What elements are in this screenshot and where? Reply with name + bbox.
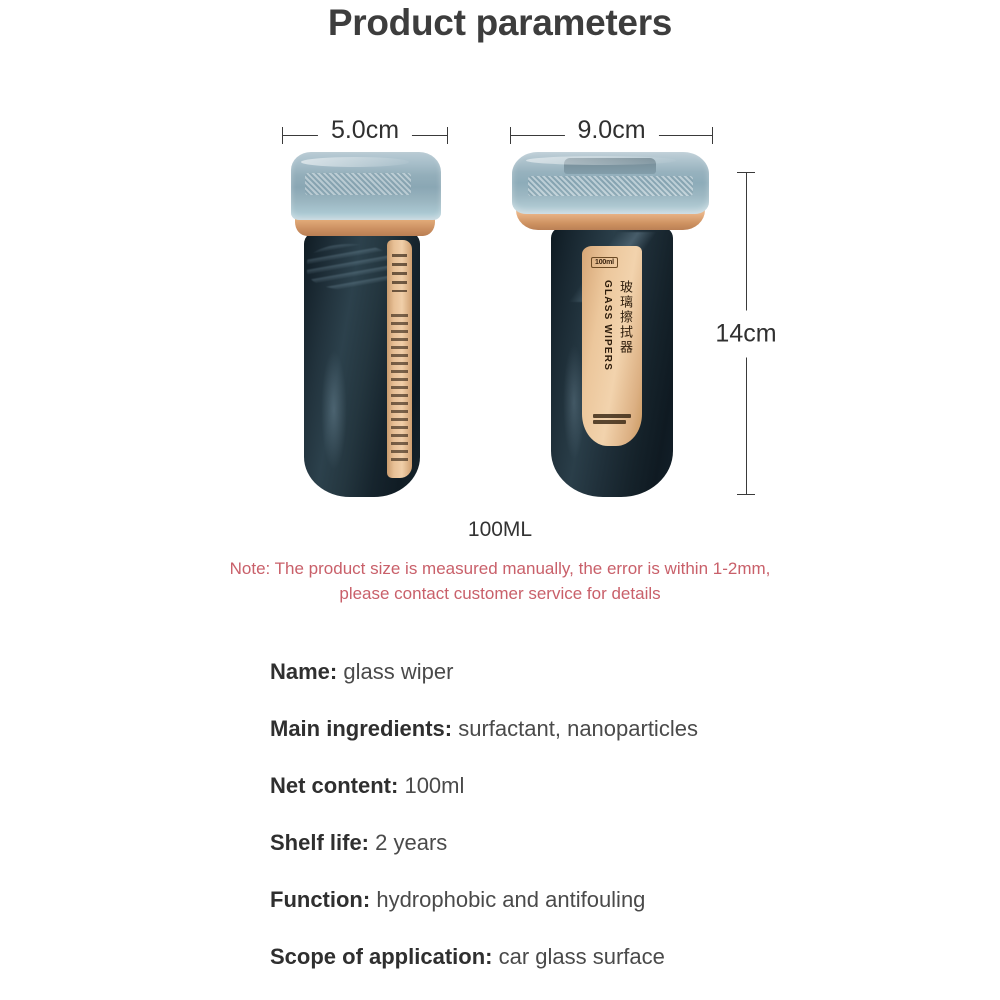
spec-row-function: Function: hydrophobic and antifouling (270, 886, 970, 914)
volume-caption: 100ML (0, 518, 1000, 542)
spec-value: car glass surface (499, 944, 665, 969)
measurement-note-line-2: please contact customer service for deta… (0, 581, 1000, 606)
measurement-note: Note: The product size is measured manua… (0, 556, 1000, 606)
bottle-label-edge (387, 240, 412, 478)
cap-highlight (526, 156, 676, 165)
dimension-height: 14cm (735, 172, 757, 495)
spec-row-shelf-life: Shelf life: 2 years (270, 829, 970, 857)
bottle-cap (291, 152, 441, 220)
cap-sponge-pad (528, 176, 693, 196)
spec-value: glass wiper (343, 659, 453, 684)
spec-key: Function: (270, 887, 370, 912)
fine-print-line (593, 420, 626, 424)
cap-sponge-pad (305, 173, 411, 195)
dimension-end-cap-right (447, 127, 448, 144)
bottle-cap (512, 152, 709, 214)
bottle-grip-ribs (307, 244, 393, 290)
dimension-label-width-large: 9.0cm (564, 116, 658, 145)
measurement-note-line-1: Note: The product size is measured manua… (0, 556, 1000, 581)
dimension-label-height: 14cm (715, 310, 776, 357)
product-parameters-page: Product parameters 5.0cm 9.0cm 14cm (0, 0, 1000, 1000)
dimension-end-cap-right (712, 127, 713, 144)
spec-key: Net content: (270, 773, 398, 798)
dimension-width-large: 9.0cm (510, 124, 713, 146)
label-text-block-top (392, 254, 407, 292)
label-fine-print (593, 414, 631, 424)
spec-value: 100ml (404, 773, 464, 798)
label-volume-badge: 100ml (591, 257, 618, 268)
label-brand-en: GLASS WIPERS (602, 280, 613, 371)
spec-row-name: Name: glass wiper (270, 658, 970, 686)
dimension-end-cap-top (737, 172, 755, 173)
spec-value: surfactant, nanoparticles (458, 716, 698, 741)
dimension-end-cap-left (510, 127, 511, 144)
page-title: Product parameters (0, 2, 1000, 44)
dimension-label-width-small: 5.0cm (318, 116, 412, 145)
cap-highlight (301, 157, 409, 167)
spec-value: 2 years (375, 830, 447, 855)
spec-key: Name: (270, 659, 337, 684)
spec-key: Main ingredients: (270, 716, 452, 741)
dimension-width-small: 5.0cm (282, 124, 448, 146)
product-image-side-view (283, 152, 451, 497)
dimension-end-cap-left (282, 127, 283, 144)
spec-key: Scope of application: (270, 944, 492, 969)
specification-list: Name: glass wiper Main ingredients: surf… (270, 658, 970, 1000)
dimension-end-cap-bottom (737, 494, 755, 495)
fine-print-line (593, 414, 631, 418)
spec-value: hydrophobic and antifouling (376, 887, 645, 912)
product-image-front-view: 100ml 玻璃擦拭器 GLASS WIPERS (508, 152, 713, 497)
spec-row-net-content: Net content: 100ml (270, 772, 970, 800)
spec-row-scope-of-application: Scope of application: car glass surface (270, 943, 970, 971)
label-text-block (391, 314, 408, 464)
label-brand-text: 玻璃擦拭器 GLASS WIPERS (592, 280, 634, 400)
spec-row-main-ingredients: Main ingredients: surfactant, nanopartic… (270, 715, 970, 743)
label-brand-cn: 玻璃擦拭器 (615, 280, 634, 355)
bottle-front-label: 100ml 玻璃擦拭器 GLASS WIPERS (582, 246, 642, 446)
spec-key: Shelf life: (270, 830, 369, 855)
